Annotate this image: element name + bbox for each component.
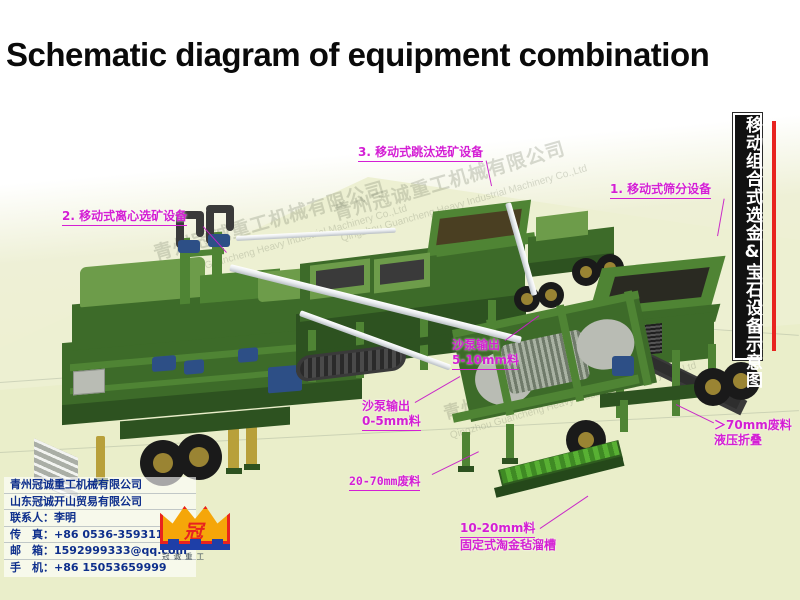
- contact-company-1: 青州冠诚重工机械有限公司: [4, 477, 196, 494]
- contact-value: +86 0536-3593111: [54, 528, 171, 541]
- contact-label: 传 真：: [10, 527, 54, 544]
- logo-stud: [212, 539, 223, 545]
- contact-label: 手 机：: [10, 560, 54, 577]
- vertical-banner-text: 移动组合式选金&宝石设备示意图: [735, 116, 760, 357]
- banner-accent-bar: [772, 121, 776, 351]
- contact-value: 李明: [54, 511, 76, 524]
- contact-label: 邮 箱：: [10, 543, 54, 560]
- schematic-diagram-page: 青州冠诚重工机械有限公司Qingzhou Guancheng Heavy Ind…: [0, 0, 800, 600]
- callout-10-20mm-sluice: 10-20mm料 固定式淘金毡溜槽: [460, 521, 556, 553]
- company-logo: 冠 冠诚重工: [158, 506, 232, 562]
- logo-caption: 冠诚重工: [162, 551, 230, 562]
- callout-sand-pump-0-5mm: 沙泵输出 0-5mm料: [362, 399, 421, 431]
- contact-row-mobile: 手 机：+86 15053659999: [4, 560, 196, 577]
- callout-20-70mm-waste: 20-70mm废料: [349, 474, 420, 491]
- callout-over-70mm-waste: ＞70mm废料 液压折叠: [714, 418, 792, 448]
- contact-value: +86 15053659999: [54, 561, 167, 574]
- callout-3-mobile-jig: 3. 移动式跳汰选矿设备: [358, 145, 483, 162]
- logo-stud: [190, 539, 201, 545]
- callout-1-mobile-screening: 1. 移动式筛分设备: [610, 182, 711, 199]
- contact-label: 联系人：: [10, 510, 54, 527]
- callout-sand-pump-5-10mm: 沙泵输出 5-10mm料: [452, 338, 519, 370]
- callout-2-mobile-centrifugal: 2. 移动式离心选矿设备: [62, 209, 187, 226]
- logo-stud: [168, 539, 179, 545]
- page-title: Schematic diagram of equipment combinati…: [6, 36, 709, 74]
